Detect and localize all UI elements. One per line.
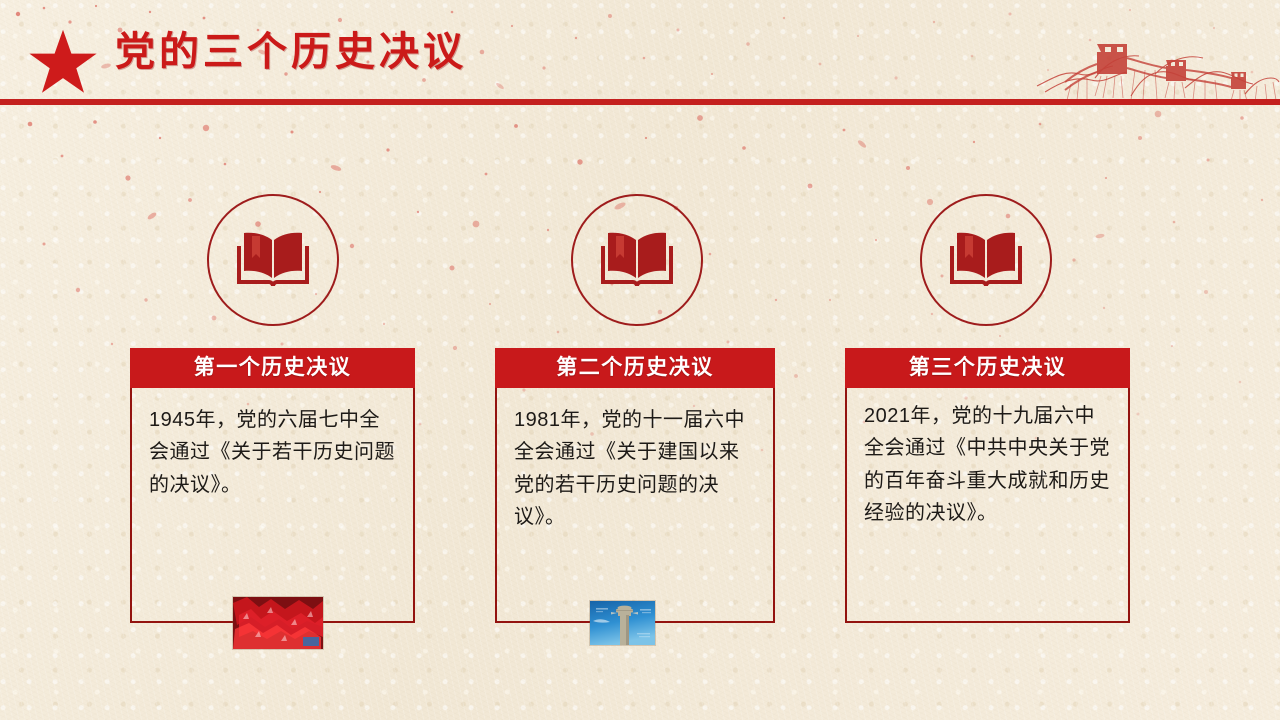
red-star-icon bbox=[28, 28, 98, 96]
page-title: 党的三个历史决议 bbox=[115, 32, 467, 72]
open-book-icon-3 bbox=[920, 194, 1052, 326]
card-body-1: 1945年，党的六届七中全会通过《关于若干历史问题的决议》。 bbox=[130, 388, 415, 623]
open-book-icon-1 bbox=[207, 194, 339, 326]
red-crowd-photo[interactable] bbox=[232, 596, 324, 650]
decision-card-2[interactable]: 第二个历史决议 1981年，党的十一届六中全会通过《关于建国以来党的若干历史问题… bbox=[495, 348, 775, 623]
open-book-icon-2 bbox=[571, 194, 703, 326]
great-wall-icon bbox=[1035, 8, 1280, 103]
monument-photo[interactable] bbox=[589, 600, 656, 646]
slide-canvas: 党的三个历史决议 bbox=[0, 0, 1280, 720]
header-divider bbox=[0, 99, 1280, 105]
decision-card-3[interactable]: 第三个历史决议 2021年，党的十九届六中全会通过《中共中央关于党的百年奋斗重大… bbox=[845, 348, 1130, 623]
decision-card-1[interactable]: 第一个历史决议 1945年，党的六届七中全会通过《关于若干历史问题的决议》。 bbox=[130, 348, 415, 623]
card-heading-1: 第一个历史决议 bbox=[130, 348, 415, 388]
card-body-3: 2021年，党的十九届六中全会通过《中共中央关于党的百年奋斗重大成就和历史经验的… bbox=[845, 388, 1130, 623]
card-heading-2: 第二个历史决议 bbox=[495, 348, 775, 388]
card-heading-3: 第三个历史决议 bbox=[845, 348, 1130, 388]
slide-header: 党的三个历史决议 bbox=[0, 0, 1280, 110]
card-body-2: 1981年，党的十一届六中全会通过《关于建国以来党的若干历史问题的决议》。 bbox=[495, 388, 775, 623]
